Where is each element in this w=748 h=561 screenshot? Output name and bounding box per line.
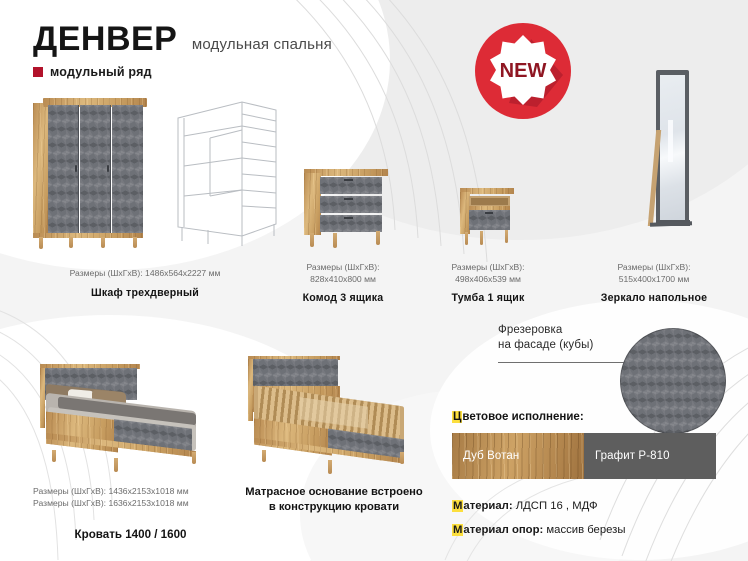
- product-wireframe-wardrobe: [172, 96, 282, 248]
- page-title: ДЕНВЕР: [33, 22, 177, 56]
- material-legs-highlight: М: [452, 524, 463, 536]
- product-image-wardrobe: [33, 95, 153, 250]
- material-row-legs: Материал опор: массив березы: [452, 524, 625, 536]
- product-image-mirror: [648, 70, 708, 250]
- wardrobe-dimensions: Размеры (ШхГхВ): 1486x564x2227 мм: [20, 268, 270, 280]
- mattress-note-line-2: в конструкцию кровати: [230, 500, 438, 515]
- nightstand-dimensions-label: Размеры (ШхГхВ):: [428, 262, 548, 274]
- caption-mirror: Размеры (ШхГхВ): 515x400x1700 мм Зеркало…: [588, 262, 720, 304]
- caption-dresser: Размеры (ШхГхВ): 828x410x800 мм Комод 3 …: [288, 262, 398, 304]
- material-body-highlight: М: [452, 500, 463, 512]
- bed-name: Кровать 1400 / 1600: [33, 528, 228, 541]
- tagline-label: модульный ряд: [50, 65, 152, 79]
- product-image-nightstand: [458, 186, 518, 251]
- dresser-dimensions-label: Размеры (ШхГхВ):: [288, 262, 398, 274]
- material-legs-value: массив березы: [546, 524, 625, 536]
- material-body-label: атериал:: [463, 500, 512, 512]
- wardrobe-name: Шкаф трехдверный: [20, 287, 270, 299]
- bed-dimensions-1: Размеры (ШхГхВ): 1436x2153x1018 мм: [33, 486, 189, 498]
- material-legs-label: атериал опор:: [463, 524, 543, 536]
- caption-nightstand: Размеры (ШхГхВ): 498x406x539 мм Тумба 1 …: [428, 262, 548, 304]
- milling-pattern-swatch: [620, 328, 726, 434]
- catalog-page: ДЕНВЕР модульная спальня модульный ряд N…: [0, 0, 748, 561]
- caption-bed: Размеры (ШхГхВ): 1436x2153x1018 мм Разме…: [33, 486, 189, 509]
- bed-dimensions-2: Размеры (ШхГхВ): 1636x2153x1018 мм: [33, 498, 189, 510]
- milling-label: Фрезеровка на фасаде (кубы): [498, 323, 593, 353]
- page-subtitle: модульная спальня: [192, 36, 332, 56]
- colors-heading: Цветовое исполнение:: [452, 411, 584, 423]
- tagline-row: модульный ряд: [33, 65, 332, 79]
- milling-label-line-2: на фасаде (кубы): [498, 338, 593, 353]
- mattress-note-line-1: Матрасное основание встроено: [230, 485, 438, 500]
- milling-label-line-1: Фрезеровка: [498, 323, 593, 338]
- page-header: ДЕНВЕР модульная спальня модульный ряд: [33, 22, 332, 79]
- dresser-dimensions-value: 828x410x800 мм: [288, 274, 398, 286]
- nightstand-name: Тумба 1 ящик: [428, 292, 548, 304]
- product-image-bed-frame: [240, 352, 425, 477]
- new-badge-label: NEW: [500, 60, 547, 82]
- mirror-dimensions-value: 515x400x1700 мм: [588, 274, 720, 286]
- mirror-name: Зеркало напольное: [588, 292, 720, 304]
- color-swatches: Дуб Вотан Графит Р-810: [452, 433, 716, 479]
- color-swatch-graphite: Графит Р-810: [584, 433, 716, 479]
- material-body-value: ЛДСП 16 , МДФ: [516, 500, 598, 512]
- colors-heading-highlight: Ц: [452, 411, 462, 423]
- product-image-bed-made: [40, 358, 230, 478]
- material-row-body: Материал: ЛДСП 16 , МДФ: [452, 500, 598, 512]
- new-badge: NEW: [471, 19, 575, 123]
- colors-heading-rest: ветовое исполнение:: [462, 411, 583, 423]
- nightstand-dimensions-value: 498x406x539 мм: [428, 274, 548, 286]
- mattress-note: Матрасное основание встроено в конструкц…: [230, 485, 438, 515]
- dresser-name: Комод 3 ящика: [288, 292, 398, 304]
- mirror-dimensions-label: Размеры (ШхГхВ):: [588, 262, 720, 274]
- caption-wardrobe: Размеры (ШхГхВ): 1486x564x2227 мм Шкаф т…: [20, 268, 270, 299]
- product-image-dresser: [300, 163, 392, 251]
- square-marker-icon: [33, 67, 43, 77]
- milling-divider: [498, 362, 628, 363]
- color-swatch-oak: Дуб Вотан: [452, 433, 584, 479]
- color-swatch-oak-label: Дуб Вотан: [463, 450, 519, 462]
- color-swatch-graphite-label: Графит Р-810: [595, 450, 670, 462]
